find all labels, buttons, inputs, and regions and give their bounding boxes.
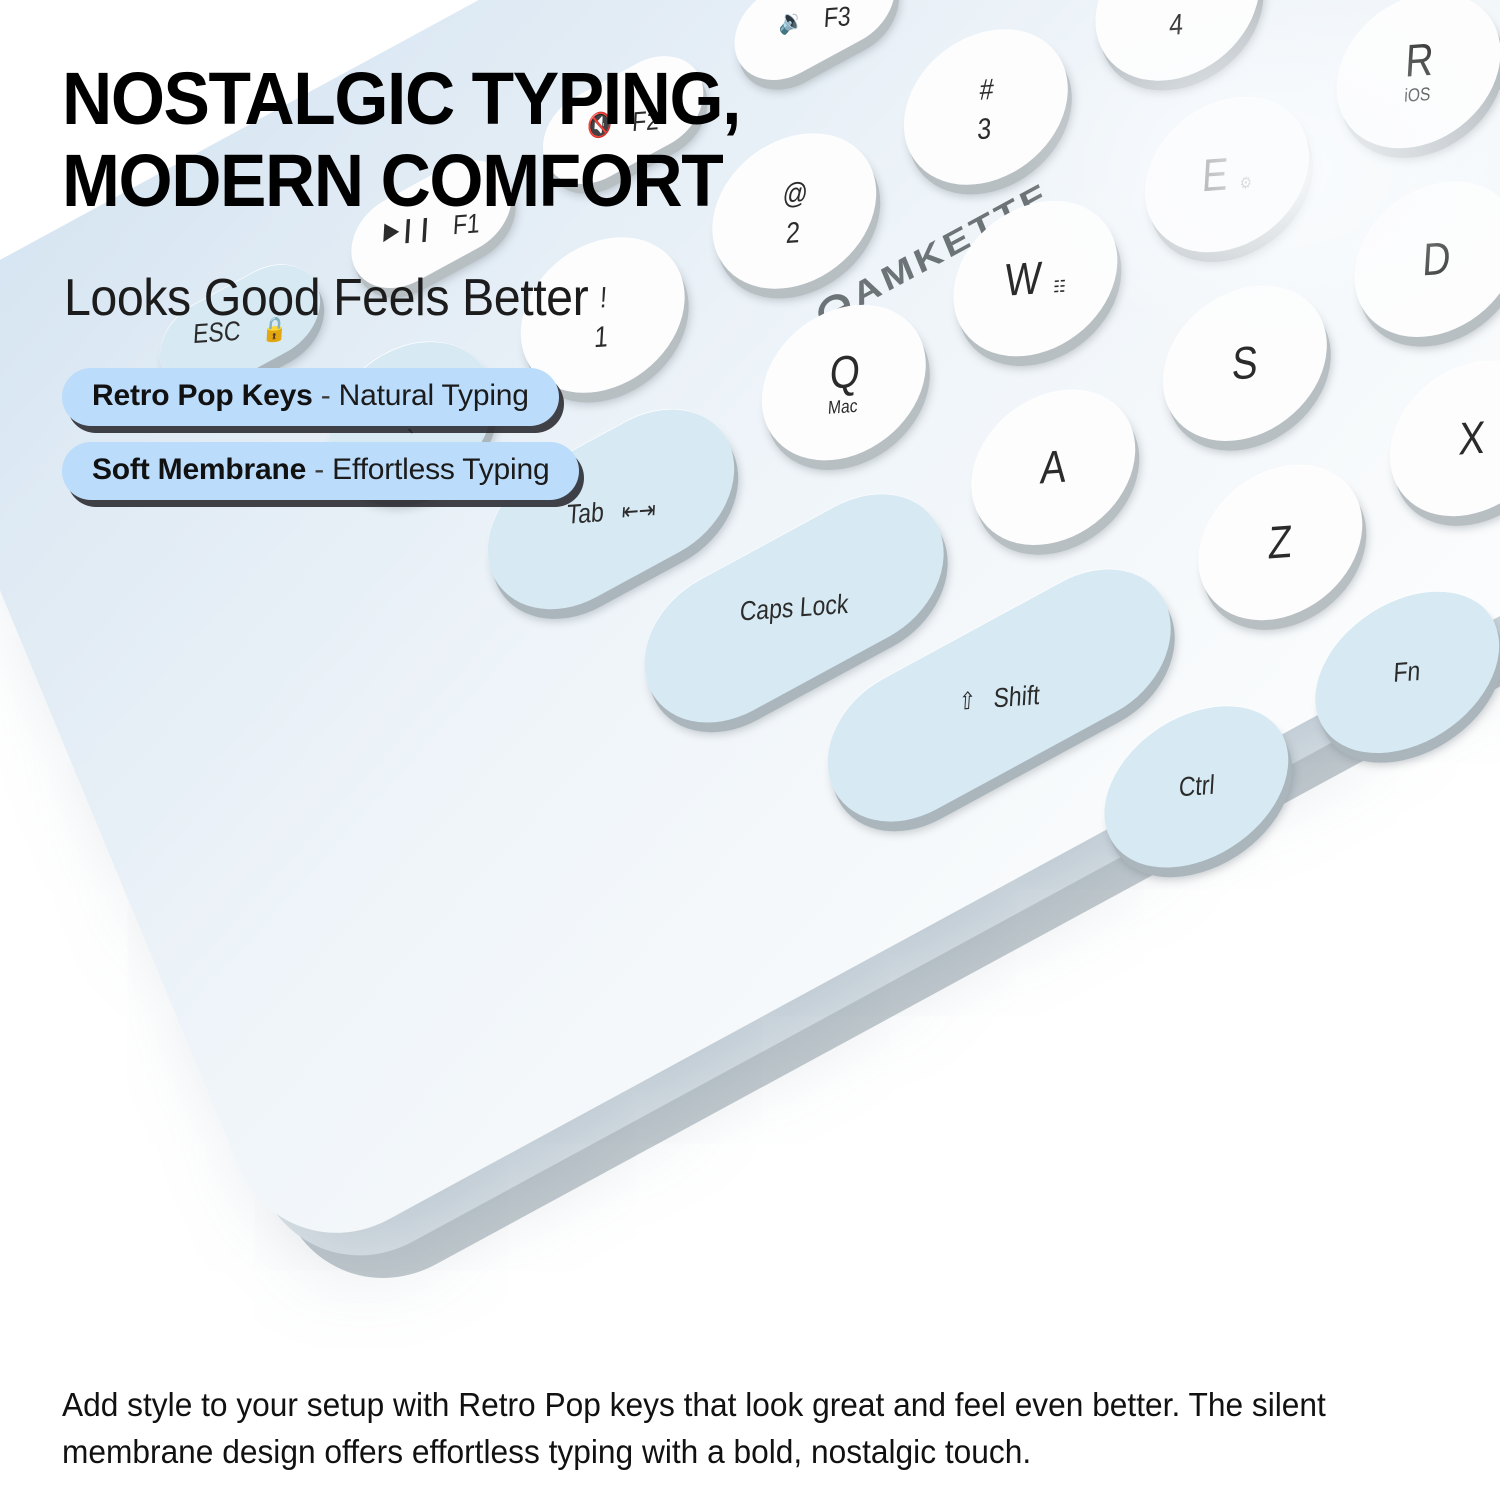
key-q-sublabel: Mac [827, 397, 858, 419]
key-f3-label: F3 [823, 1, 852, 33]
badge-separator: - [313, 379, 339, 412]
key-3-bottom: 3 [977, 111, 993, 145]
badge-light-text: Effortless Typing [332, 453, 549, 486]
badge-separator: - [306, 453, 332, 486]
key-x-label: X [1458, 414, 1487, 464]
key-x[interactable]: X [1367, 331, 1500, 546]
feature-badge-soft-membrane: Soft Membrane - Effortless Typing [62, 442, 579, 500]
badge-light-text: Natural Typing [339, 379, 529, 412]
feature-badge-list: Retro Pop Keys - Natural Typing Soft Mem… [62, 368, 579, 516]
key-z-label: Z [1267, 518, 1293, 568]
key-fn-label: Fn [1393, 657, 1422, 688]
badge-bold-text: Soft Membrane [92, 453, 306, 486]
key-ctrl-label: Ctrl [1178, 771, 1215, 802]
key-q-label: Q [828, 345, 861, 398]
subheadline: Looks Good Feels Better [64, 268, 901, 328]
tab-arrows-icon: ⇤⇥ [621, 496, 657, 526]
key-caps-lock-label: Caps Lock [739, 590, 849, 626]
feature-badge-retro-pop-keys: Retro Pop Keys - Natural Typing [62, 368, 559, 426]
shift-arrow-icon: ⇧ [958, 686, 977, 715]
product-photo: AMKETTE BT3 BT2 ESC 🔒 [0, 0, 1500, 1500]
key-2-bottom: 2 [785, 215, 801, 249]
headline-line-1: NOSTALGIC TYPING, [62, 57, 740, 140]
key-a[interactable]: A [949, 360, 1158, 575]
headline-line-2: MODERN COMFORT [62, 144, 908, 218]
key-a-label: A [1039, 443, 1068, 493]
badge-bold-text: Retro Pop Keys [92, 379, 313, 412]
key-shift-label: Shift [993, 680, 1041, 714]
description-caption: Add style to your setup with Retro Pop k… [62, 1382, 1396, 1476]
key-3-top: # [979, 72, 995, 106]
soft-highlight-blob [1020, 0, 1500, 350]
page-title: NOSTALGIC TYPING, MODERN COMFORT [62, 62, 908, 218]
volume-down-icon: 🔉 [778, 6, 805, 35]
